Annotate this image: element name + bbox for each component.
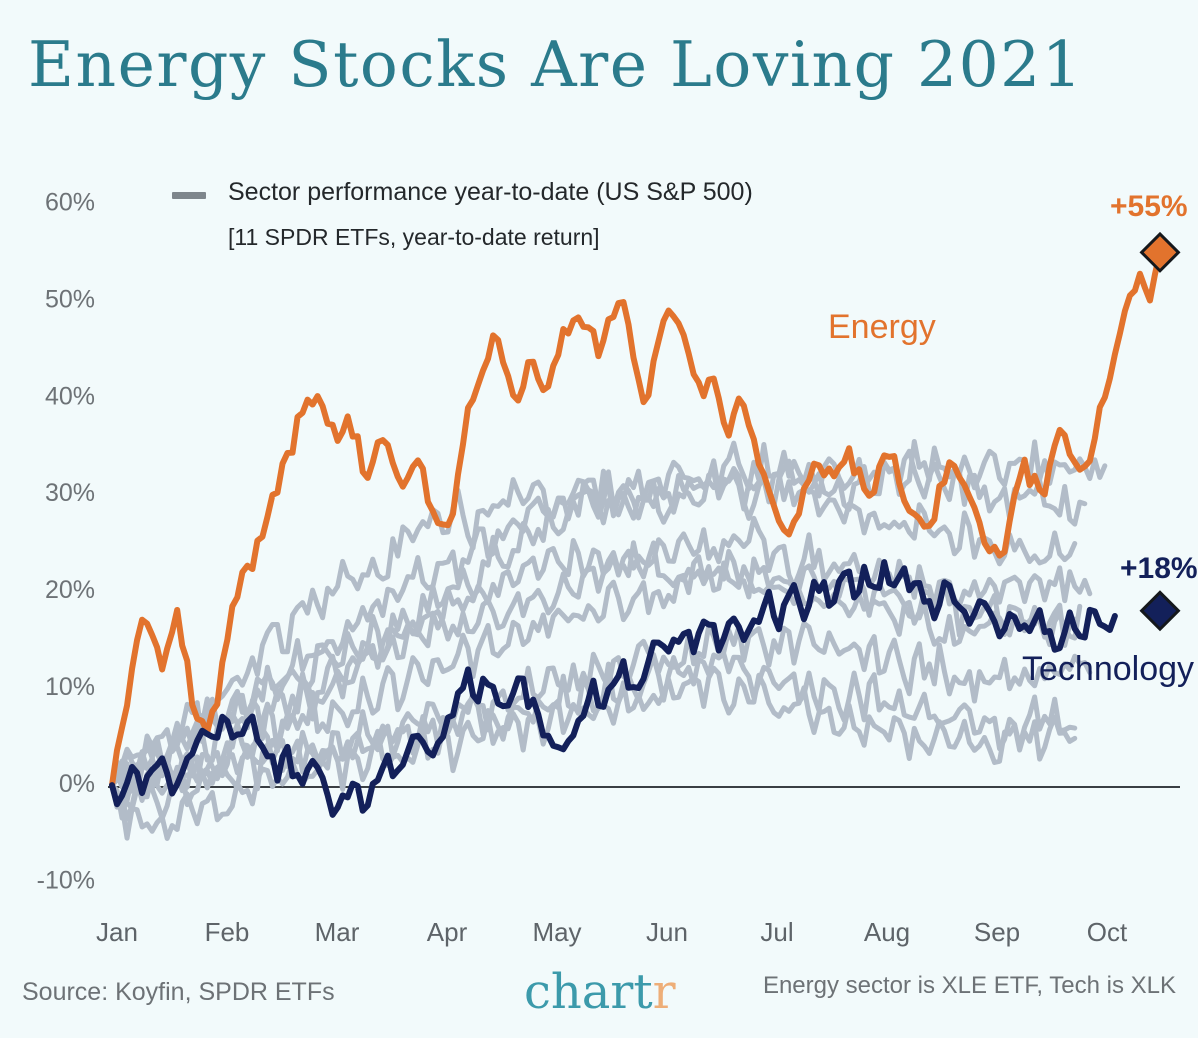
- y-axis-tick-label: 0%: [59, 770, 95, 798]
- y-axis-tick-label: 30%: [45, 479, 95, 507]
- endpoint-marker-technology: [1142, 592, 1179, 629]
- x-axis-tick-label: Mar: [315, 917, 360, 947]
- x-axis-tick-label: Sep: [974, 917, 1020, 947]
- y-axis-tick-label: 20%: [45, 576, 95, 604]
- chart-root: Energy Stocks Are Loving 2021 Sector per…: [0, 0, 1198, 1038]
- x-axis-tick-label: Jul: [760, 917, 793, 947]
- y-axis-tick-labels: 60%50%40%30%20%10%0%-10%: [37, 189, 95, 895]
- annotation-energy-label: Energy: [828, 308, 936, 347]
- annotation-energy-value: +55%: [1110, 190, 1188, 224]
- logo-main-text: chart: [524, 964, 653, 1020]
- y-axis-tick-label: 10%: [45, 673, 95, 701]
- x-axis-tick-labels: JanFebMarAprMayJunJulAugSepOct: [96, 917, 1128, 947]
- y-axis-tick-label: -10%: [37, 867, 95, 895]
- x-axis-tick-label: Oct: [1087, 917, 1128, 947]
- chart-plot-area: 60%50%40%30%20%10%0%-10% JanFebMarAprMay…: [0, 0, 1198, 1038]
- annotation-technology-value: +18%: [1120, 552, 1198, 586]
- annotation-technology-label: Technology: [1022, 650, 1194, 689]
- x-axis-tick-label: Aug: [864, 917, 910, 947]
- y-axis-tick-label: 40%: [45, 382, 95, 410]
- other-sector-lines: [112, 442, 1105, 839]
- logo-accent-text: r: [653, 964, 676, 1020]
- x-axis-tick-label: May: [532, 917, 581, 947]
- x-axis-tick-label: Jan: [96, 917, 138, 947]
- chartr-logo: chartr: [524, 964, 676, 1020]
- footer-source: Source: Koyfin, SPDR ETFs: [22, 978, 335, 1007]
- y-axis-tick-label: 60%: [45, 189, 95, 217]
- x-axis-tick-label: Feb: [205, 917, 250, 947]
- endpoint-marker-energy: [1142, 234, 1179, 271]
- y-axis-tick-label: 50%: [45, 285, 95, 313]
- x-axis-tick-label: Apr: [427, 917, 468, 947]
- footer-note: Energy sector is XLE ETF, Tech is XLK: [763, 972, 1176, 1000]
- x-axis-tick-label: Jun: [646, 917, 688, 947]
